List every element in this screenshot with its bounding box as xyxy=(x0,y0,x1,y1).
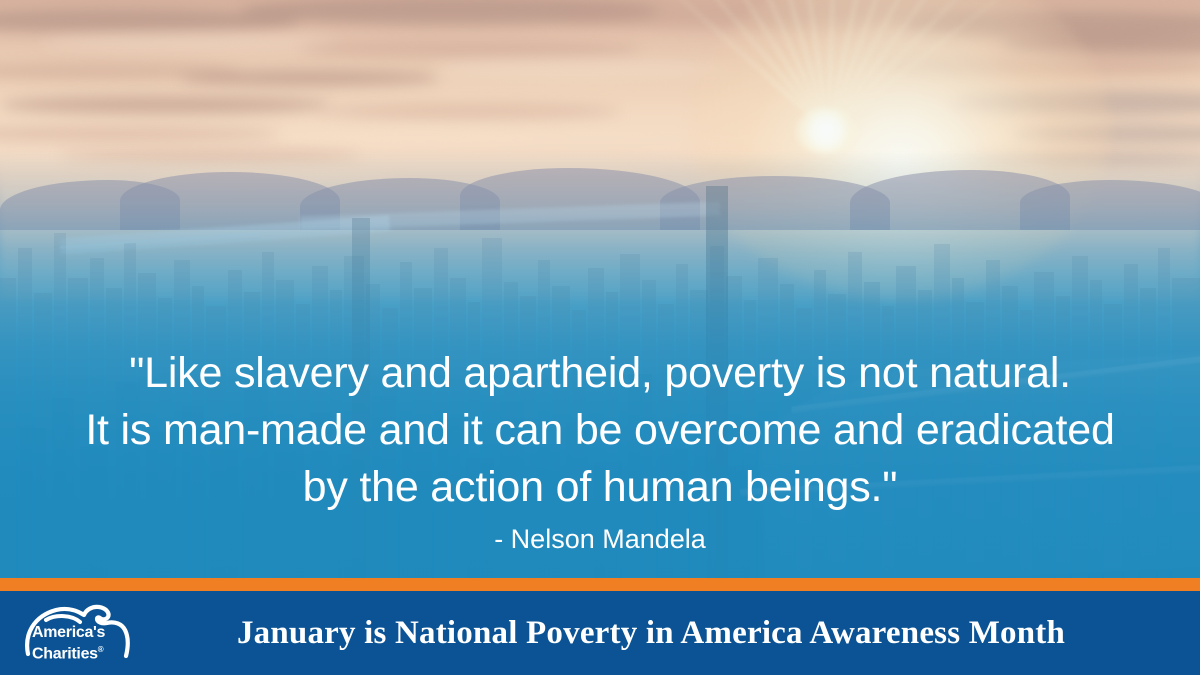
quote-line-1: "Like slavery and apartheid, poverty is … xyxy=(0,345,1200,402)
registered-mark: ® xyxy=(98,645,104,654)
banner-title: January is National Poverty in America A… xyxy=(142,615,1200,652)
quote-line-2: It is man-made and it can be overcome an… xyxy=(0,402,1200,459)
orange-divider xyxy=(0,578,1200,591)
americas-charities-logo[interactable]: America's Charities® xyxy=(22,598,142,668)
logo-line-1: America's xyxy=(32,624,105,641)
logo-wordmark: America's Charities® xyxy=(32,624,105,662)
quote-block: "Like slavery and apartheid, poverty is … xyxy=(0,345,1200,556)
bottom-banner: America's Charities® January is National… xyxy=(0,591,1200,675)
quote-attribution: - Nelson Mandela xyxy=(0,522,1200,556)
logo-line-2: Charities xyxy=(32,645,98,662)
quote-line-3: by the action of human beings." xyxy=(0,459,1200,516)
poster: "Like slavery and apartheid, poverty is … xyxy=(0,0,1200,675)
